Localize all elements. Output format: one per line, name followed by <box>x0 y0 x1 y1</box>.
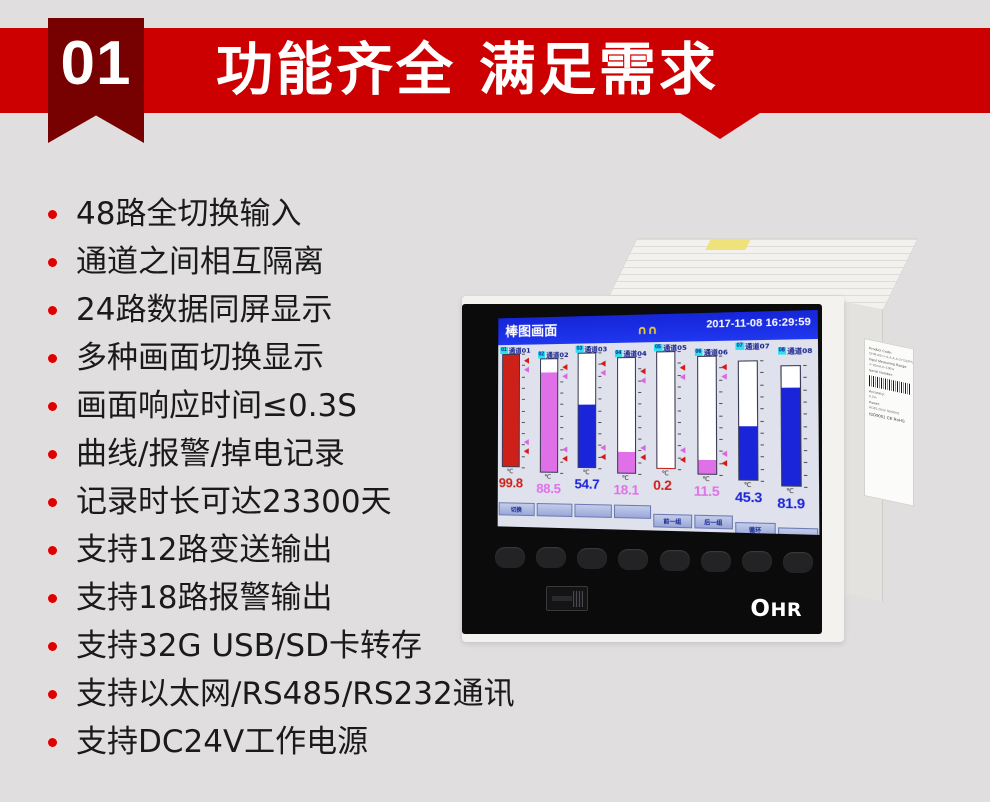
feature-item-label: 支持32G USB/SD卡转存 <box>76 631 422 662</box>
bullet-icon <box>48 258 57 267</box>
bar-scale-ticks <box>801 365 806 487</box>
bar-track <box>656 351 676 469</box>
alarm-marker-icon <box>640 454 645 460</box>
alarm-marker-icon <box>600 370 605 376</box>
bar-column: 03通道03℃54.7 <box>573 343 612 505</box>
lcd-softkey[interactable]: 后一组 <box>694 515 733 530</box>
bar-columns: 01通道01℃99.802通道02℃88.503通道03℃54.704通道04℃… <box>498 339 819 509</box>
channel-id-badge: 08 <box>777 347 786 355</box>
device-illustration: Product Code:OHR-A5××-A.A.A.A-2Y/22/P/U/… <box>440 238 880 643</box>
alarm-marker-icon <box>680 457 685 463</box>
lcd-softkey[interactable] <box>777 527 818 535</box>
feature-item-label: 支持18路报警输出 <box>76 583 332 614</box>
channel-tag: 08通道08 <box>777 344 812 355</box>
device-spec-label: Product Code:OHR-A5××-A.A.A.A-2Y/22/P/U/… <box>864 338 914 507</box>
bar-unit-label: ℃ <box>662 470 669 477</box>
device-key[interactable] <box>783 552 813 573</box>
alarm-marker-icon <box>680 374 685 380</box>
alarm-marker-icon <box>562 447 567 453</box>
bar-unit-label: ℃ <box>583 469 590 476</box>
poster-page: 01 功能齐全 满足需求 48路全切换输入通道之间相互隔离24路数据同屏显示多种… <box>0 0 990 802</box>
alarm-marker-icon <box>640 445 645 451</box>
device-key[interactable] <box>536 547 566 568</box>
bar-unit-label: ℃ <box>544 474 551 481</box>
bar-value-label: 54.7 <box>574 476 599 492</box>
bar-value-label: 18.1 <box>613 482 638 498</box>
bar-fill <box>739 426 757 480</box>
bullet-icon <box>48 594 57 603</box>
channel-id-badge: 02 <box>538 351 546 358</box>
device-front-bezel: 棒图画面 ∩∩ 2017-11-08 16:29:59 01通道01℃99.80… <box>462 296 844 642</box>
device-key[interactable] <box>577 548 607 569</box>
bullet-icon <box>48 306 57 315</box>
brand-logo: OHR <box>750 596 802 622</box>
bar-track <box>780 365 801 487</box>
bar-scale-ticks <box>759 360 764 481</box>
lcd-softkey[interactable]: 前一组 <box>653 514 691 529</box>
feature-item-label: 24路数据同屏显示 <box>76 295 332 326</box>
bullet-icon <box>48 402 57 411</box>
bar-column: 05通道05℃0.2 <box>652 341 693 506</box>
device-key[interactable] <box>618 549 648 570</box>
bar-track <box>578 352 597 468</box>
bar-fill <box>503 355 519 466</box>
channel-name-label: 通道07 <box>745 340 770 351</box>
bar-column: 08通道08℃81.9 <box>775 339 819 509</box>
bar-column: 07通道07℃45.3 <box>733 340 776 508</box>
bar-column: 04通道04℃18.1 <box>612 342 652 505</box>
bar-fill <box>698 460 716 474</box>
alarm-marker-icon <box>562 364 567 370</box>
alarm-marker-icon <box>524 439 529 445</box>
feature-item-label: 支持12路变送输出 <box>76 535 332 566</box>
bar-value-label: 45.3 <box>735 489 762 506</box>
alarm-marker-icon <box>721 450 727 456</box>
page-title: 功能齐全 满足需求 <box>216 33 719 107</box>
bullet-icon <box>48 498 57 507</box>
feature-item: 支持以太网/RS485/RS232通讯 <box>48 670 638 718</box>
channel-id-badge: 07 <box>735 342 743 350</box>
brand-logo-rest: HR <box>770 599 802 621</box>
channel-id-badge: 06 <box>694 348 702 355</box>
device-key[interactable] <box>495 547 525 568</box>
channel-id-badge: 01 <box>500 347 507 354</box>
bar-column: 01通道01℃99.8 <box>498 344 536 502</box>
brand-logo-initial: O <box>750 596 770 622</box>
bar-track <box>617 357 636 474</box>
bar-value-label: 0.2 <box>653 477 671 493</box>
bullet-icon <box>48 354 57 363</box>
bullet-icon <box>48 210 57 219</box>
bar-fill <box>579 405 596 467</box>
device-key[interactable] <box>701 551 731 572</box>
lcd-softkey[interactable] <box>536 503 572 517</box>
section-number-ribbon: 01 <box>48 18 144 143</box>
feature-item-label: 通道之间相互隔离 <box>76 247 324 278</box>
alarm-marker-icon <box>524 366 529 372</box>
alarm-marker-icon <box>562 456 567 462</box>
bar-track <box>697 356 717 475</box>
feature-item: 48路全切换输入 <box>48 190 638 238</box>
alarm-marker-icon <box>721 364 727 370</box>
bar-value-label: 11.5 <box>694 483 720 499</box>
lcd-softkey-row: 切换前一组后一组循环 <box>498 502 820 535</box>
lcd-softkey[interactable] <box>613 505 651 519</box>
header-notch <box>680 113 760 139</box>
alarm-marker-icon <box>600 454 605 460</box>
bar-chart-area: 01通道01℃99.802通道02℃88.503通道03℃54.704通道04℃… <box>498 339 819 509</box>
bar-track <box>738 360 759 480</box>
lcd-softkey[interactable]: 切换 <box>499 502 535 516</box>
bar-fill <box>618 452 635 473</box>
bullet-icon <box>48 642 57 651</box>
channel-id-badge: 03 <box>576 345 584 352</box>
bar-value-label: 88.5 <box>536 481 561 497</box>
waveform-icon: ∩∩ <box>637 322 658 337</box>
bullet-icon <box>48 690 57 699</box>
bar-fill <box>781 388 800 486</box>
bar-column: 06通道06℃11.5 <box>692 341 734 507</box>
bar-unit-label: ℃ <box>702 476 709 484</box>
feature-item: 支持DC24V工作电源 <box>48 718 638 766</box>
lcd-softkey[interactable] <box>574 504 611 518</box>
alarm-marker-icon <box>680 364 685 370</box>
bar-unit-label: ℃ <box>786 488 794 496</box>
feature-item-label: 多种画面切换显示 <box>76 343 324 374</box>
device-keypad[interactable] <box>495 542 813 572</box>
device-front-black-panel: 棒图画面 ∩∩ 2017-11-08 16:29:59 01通道01℃99.80… <box>462 304 822 634</box>
device-yellow-sticker <box>705 239 750 250</box>
bar-value-label: 99.8 <box>499 475 523 490</box>
bullet-icon <box>48 546 57 555</box>
bullet-icon <box>48 450 57 459</box>
feature-item-label: 曲线/报警/掉电记录 <box>76 439 345 470</box>
device-lcd-screen[interactable]: 棒图画面 ∩∩ 2017-11-08 16:29:59 01通道01℃99.80… <box>498 310 820 535</box>
alarm-marker-icon <box>721 374 727 380</box>
lcd-softkey[interactable]: 循环 <box>735 522 775 535</box>
bar-column: 02通道02℃88.5 <box>535 344 573 504</box>
feature-item-label: 画面响应时间≤0.3S <box>76 391 357 422</box>
feature-item-label: 支持DC24V工作电源 <box>76 727 368 758</box>
bar-unit-label: ℃ <box>622 475 629 482</box>
device-key[interactable] <box>742 551 772 572</box>
section-number: 01 <box>48 28 144 99</box>
feature-item-label: 记录时长可达23300天 <box>76 487 392 518</box>
lcd-datetime: 2017-11-08 16:29:59 <box>706 317 811 331</box>
alarm-marker-icon <box>524 357 529 363</box>
usb-sd-port[interactable] <box>546 586 588 611</box>
channel-name-label: 通道08 <box>787 344 812 355</box>
bullet-icon <box>48 738 57 747</box>
bar-unit-label: ℃ <box>744 482 752 490</box>
feature-item-label: 支持以太网/RS485/RS232通讯 <box>76 679 515 710</box>
channel-id-badge: 04 <box>614 349 622 356</box>
channel-id-badge: 05 <box>654 344 662 351</box>
alarm-marker-icon <box>600 444 605 450</box>
channel-tag: 07通道07 <box>735 340 769 351</box>
alarm-marker-icon <box>640 377 645 383</box>
alarm-marker-icon <box>721 460 727 466</box>
alarm-marker-icon <box>524 448 529 454</box>
alarm-marker-icon <box>640 368 645 374</box>
bar-fill <box>540 372 556 472</box>
alarm-marker-icon <box>680 447 685 453</box>
device-key[interactable] <box>660 550 690 571</box>
feature-item-label: 48路全切换输入 <box>76 199 301 230</box>
lcd-screen-title: 棒图画面 <box>505 320 557 340</box>
bar-track <box>502 354 520 468</box>
bar-track <box>539 358 557 473</box>
alarm-marker-icon <box>600 361 605 367</box>
alarm-marker-icon <box>562 373 567 379</box>
